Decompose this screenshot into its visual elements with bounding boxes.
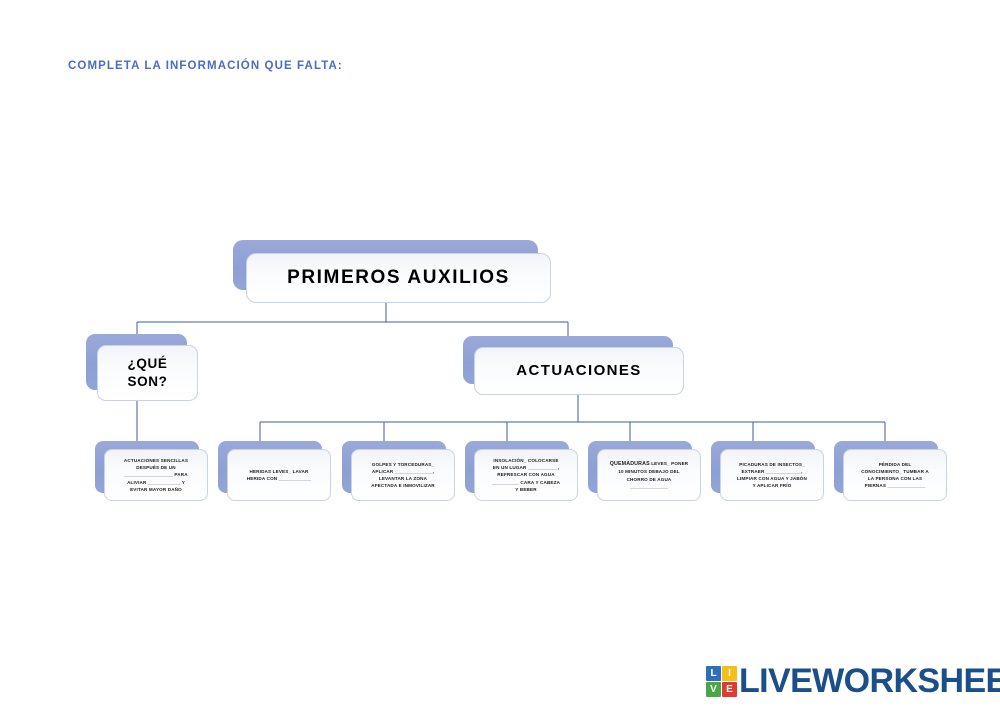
que-son-label: ¿QUÉ SON? [128,355,168,391]
leaf-text: GOLPES Y TORCEDURAS_APLICAR ____________… [371,461,435,489]
node-card: GOLPES Y TORCEDURAS_APLICAR ____________… [351,449,455,501]
node-card: ¿QUÉ SON? [97,345,198,401]
que-son-label-line2: SON? [128,373,168,391]
leaf-text: PICADURAS DE INSECTOS_EXTRAER __________… [737,461,807,489]
root-label: PRIMEROS AUXILIOS [287,265,510,291]
diagram-leaf-heridas-leves: HERIDAS LEVES_ LAVARHERIDA CON _________… [218,441,322,493]
node-card: QUEMADURAS LEVES_ PONER10 MINUTOS DEBAJO… [597,449,701,501]
worksheet-instruction: COMPLETA LA INFORMACIÓN QUE FALTA: [68,60,343,72]
que-son-label-line1: ¿QUÉ [128,355,168,373]
leaf-text: INSOLACIÓN_ COLOCARSEEN UN LUGAR _______… [492,457,560,493]
worksheet-canvas: COMPLETA LA INFORMACIÓN QUE FALTA: [0,0,1000,707]
leaf-text: ACTUACIONES SENCILLASDESPUÉS DE UN______… [124,457,188,493]
leaf-text: HERIDAS LEVES_ LAVARHERIDA CON _________… [247,468,311,482]
node-card: PICADURAS DE INSECTOS_EXTRAER __________… [720,449,824,501]
node-card: PRIMEROS AUXILIOS [246,253,551,303]
liveworksheets-logo: LIVE LIVEWORKSHEETS [706,664,1000,698]
diagram-leaf-actuaciones-sencillas: ACTUACIONES SENCILLASDESPUÉS DE UN______… [95,441,199,493]
diagram-leaf-golpes-torceduras: GOLPES Y TORCEDURAS_APLICAR ____________… [342,441,446,493]
diagram-leaf-perdida-conocimiento: PÉRDIDA DELCONOCIMIENTO_ TUMBAR ALA PERS… [834,441,938,493]
diagram-leaf-picaduras-insectos: PICADURAS DE INSECTOS_EXTRAER __________… [711,441,815,493]
diagram-node-root: PRIMEROS AUXILIOS [233,240,538,290]
diagram-node-actuaciones: ACTUACIONES [463,336,673,384]
diagram-leaf-insolacion: INSOLACIÓN_ COLOCARSEEN UN LUGAR _______… [465,441,569,493]
node-card: HERIDAS LEVES_ LAVARHERIDA CON _________… [227,449,331,501]
node-card: PÉRDIDA DELCONOCIMIENTO_ TUMBAR ALA PERS… [843,449,947,501]
logo-tile-grid: LIVE [706,666,737,697]
logo-wordmark: LIVEWORKSHEETS [739,664,1000,698]
actuaciones-label: ACTUACIONES [516,361,641,381]
logo-tile-i: I [722,666,737,681]
leaf-text: PÉRDIDA DELCONOCIMIENTO_ TUMBAR ALA PERS… [861,461,929,489]
diagram-node-que-son: ¿QUÉ SON? [86,334,187,390]
node-card: ACTUACIONES [474,347,684,395]
leaf-text: QUEMADURAS LEVES_ PONER10 MINUTOS DEBAJO… [610,460,689,490]
logo-tile-e: E [722,682,737,697]
node-card: ACTUACIONES SENCILLASDESPUÉS DE UN______… [104,449,208,501]
node-card: INSOLACIÓN_ COLOCARSEEN UN LUGAR _______… [474,449,578,501]
logo-tile-l: L [706,666,721,681]
logo-tile-v: V [706,682,721,697]
diagram-leaf-quemaduras-leves: QUEMADURAS LEVES_ PONER10 MINUTOS DEBAJO… [588,441,692,493]
